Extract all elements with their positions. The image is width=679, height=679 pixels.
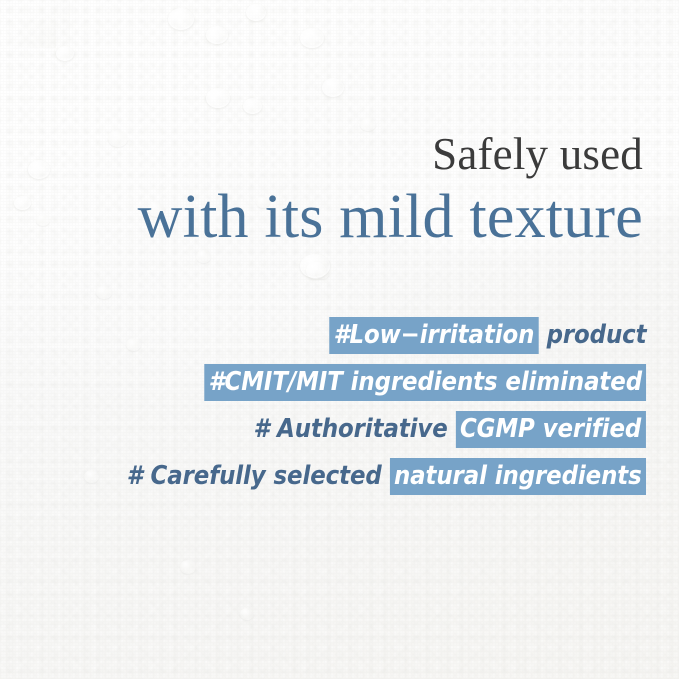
feature-bullet-1-highlight: #Low−irritation: [329, 317, 538, 354]
feature-bullet-3-plain-before: # Authoritative: [254, 414, 448, 444]
feature-bullet-1-plain: [538, 320, 546, 350]
headline-line-1: Safely used: [138, 128, 643, 180]
feature-bullet-2-highlight: #CMIT/MIT ingredients eliminated: [204, 364, 646, 401]
feature-bullet-2: #CMIT/MIT ingredients eliminated: [204, 365, 646, 399]
headline-line-2: with its mild texture: [138, 182, 643, 252]
feature-bullet-3-highlight: CGMP verified: [456, 411, 646, 448]
feature-bullet-4-highlight: natural ingredients: [389, 458, 646, 495]
feature-bullet-4: # Carefully selected natural ingredients: [127, 459, 646, 493]
feature-bullet-1-plain-after: product: [546, 320, 646, 350]
feature-bullet-4-plain-before: # Carefully selected: [127, 461, 382, 491]
product-marketing-poster: Safely used with its mild texture #Low−i…: [0, 0, 679, 679]
feature-bullet-list: #Low−irritation product #CMIT/MIT ingred…: [56, 318, 646, 493]
poster-copy: Safely used with its mild texture #Low−i…: [0, 0, 679, 679]
headline-block: Safely used with its mild texture: [138, 128, 643, 252]
feature-bullet-3: # Authoritative CGMP verified: [254, 412, 646, 446]
feature-bullet-1: #Low−irritation product: [329, 318, 646, 352]
